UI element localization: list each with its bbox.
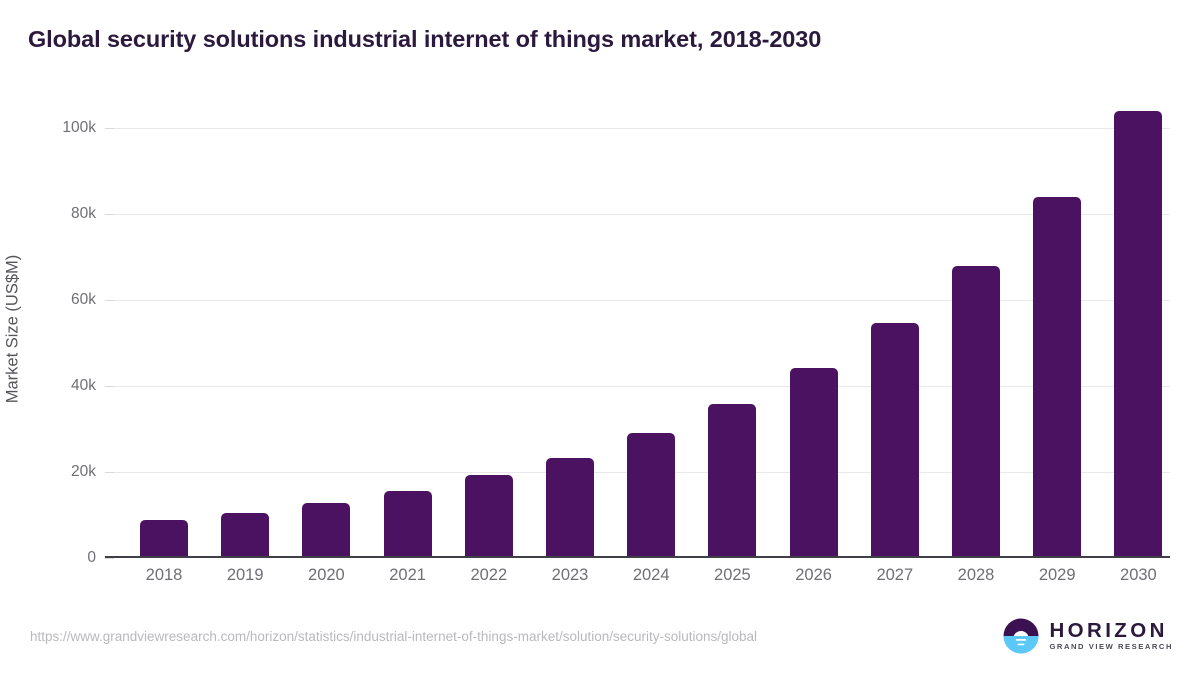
horizon-logo-icon <box>1002 617 1040 655</box>
y-tick-label: 100k <box>16 119 96 137</box>
plot-area: 020k40k60k80k100k <box>114 100 1170 558</box>
bar[interactable] <box>465 475 513 558</box>
brand-logo: HORIZON GRAND VIEW RESEARCH <box>1002 617 1173 655</box>
x-tick-label: 2025 <box>714 566 751 585</box>
source-url[interactable]: https://www.grandviewresearch.com/horizo… <box>30 629 757 644</box>
brand-text: HORIZON GRAND VIEW RESEARCH <box>1049 620 1173 652</box>
bar[interactable] <box>871 323 919 558</box>
bar[interactable] <box>627 433 675 558</box>
y-tick-mark <box>105 300 114 301</box>
x-tick-label: 2020 <box>308 566 345 585</box>
bar[interactable] <box>302 503 350 558</box>
bar[interactable] <box>790 368 838 558</box>
bar[interactable] <box>708 404 756 558</box>
x-tick-label: 2026 <box>795 566 832 585</box>
y-tick-mark <box>105 386 114 387</box>
y-tick-label: 60k <box>16 291 96 309</box>
brand-name: HORIZON <box>1049 620 1173 642</box>
x-tick-label: 2018 <box>146 566 183 585</box>
x-tick-label: 2027 <box>876 566 913 585</box>
x-tick-label: 2028 <box>958 566 995 585</box>
x-tick-label: 2019 <box>227 566 264 585</box>
bar-series <box>114 100 1170 558</box>
bar[interactable] <box>1114 111 1162 558</box>
bar[interactable] <box>140 520 188 558</box>
y-tick-mark <box>105 214 114 215</box>
bar[interactable] <box>384 491 432 558</box>
bar[interactable] <box>221 513 269 558</box>
y-tick-mark <box>105 128 114 129</box>
y-tick-label: 40k <box>16 377 96 395</box>
brand-tagline: GRAND VIEW RESEARCH <box>1049 642 1173 652</box>
x-tick-label: 2023 <box>552 566 589 585</box>
y-tick-mark <box>105 558 114 559</box>
bar[interactable] <box>546 458 594 558</box>
x-tick-label: 2022 <box>470 566 507 585</box>
x-axis-line <box>105 556 1170 558</box>
chart-card: Global security solutions industrial int… <box>0 0 1200 675</box>
y-tick-mark <box>105 472 114 473</box>
x-tick-label: 2021 <box>389 566 426 585</box>
x-tick-label: 2030 <box>1120 566 1157 585</box>
x-tick-label: 2024 <box>633 566 670 585</box>
chart-plot-wrapper: Market Size (US$M) 020k40k60k80k100k 201… <box>0 0 1200 675</box>
x-tick-label: 2029 <box>1039 566 1076 585</box>
y-tick-label: 20k <box>16 463 96 481</box>
bar[interactable] <box>952 266 1000 558</box>
bar[interactable] <box>1033 197 1081 558</box>
y-tick-label: 0 <box>16 549 96 567</box>
y-tick-label: 80k <box>16 205 96 223</box>
